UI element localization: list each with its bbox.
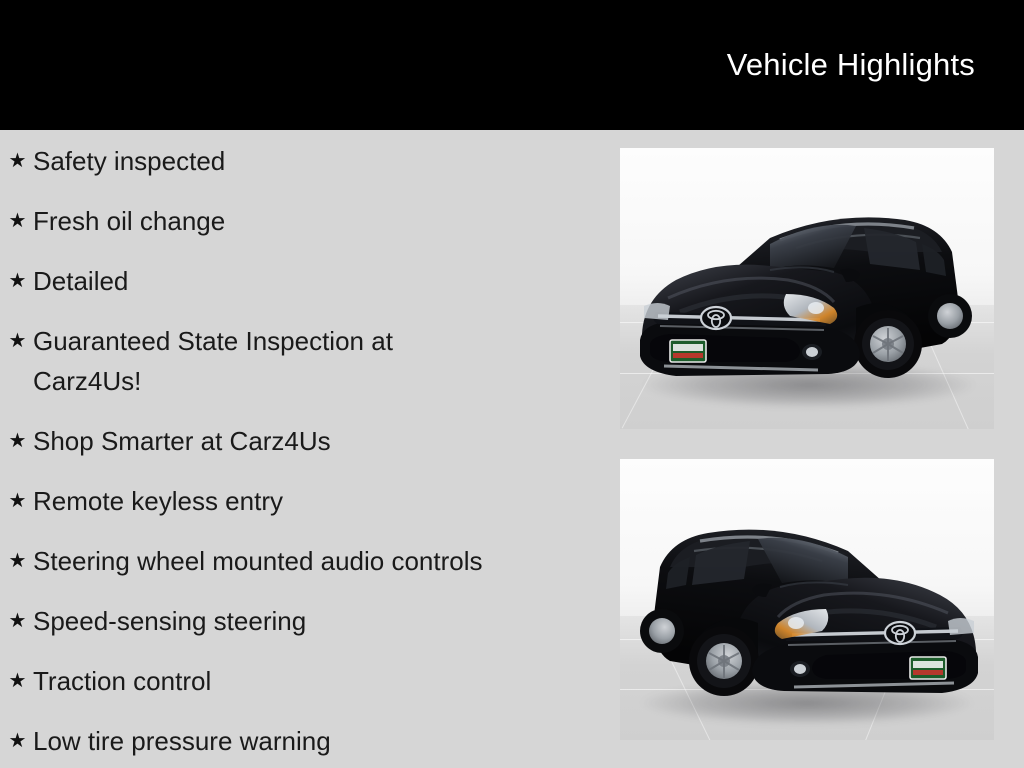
list-item-label: Speed-sensing steering: [33, 601, 463, 641]
list-item-label: Steering wheel mounted audio controls: [33, 541, 593, 581]
vehicle-highlights-slide: Vehicle Highlights ★ Safety inspected ★ …: [0, 0, 1024, 768]
star-bullet-icon: ★: [0, 201, 33, 241]
list-item: ★ Shop Smarter at Carz4Us: [0, 420, 600, 480]
list-item: ★ Traction control: [0, 660, 600, 720]
vehicle-illustration: [620, 459, 994, 740]
list-item: ★ Steering wheel mounted audio controls: [0, 540, 600, 600]
star-bullet-icon: ★: [0, 481, 33, 521]
list-item-label: Safety inspected: [33, 141, 463, 181]
page-title: Vehicle Highlights: [727, 48, 975, 82]
vehicle-highlights-list: ★ Safety inspected ★ Fresh oil change ★ …: [0, 140, 600, 768]
list-item: ★ Fresh oil change: [0, 200, 600, 260]
star-bullet-icon: ★: [0, 261, 33, 301]
dealer-license-plate: [670, 340, 706, 362]
vehicle-photo-front-driver-side[interactable]: [620, 148, 994, 429]
vehicle-illustration: [620, 148, 994, 429]
list-item: ★ Safety inspected: [0, 140, 600, 200]
star-bullet-icon: ★: [0, 541, 33, 581]
star-bullet-icon: ★: [0, 601, 33, 641]
list-item-label: Shop Smarter at Carz4Us: [33, 421, 463, 461]
list-item-label: Fresh oil change: [33, 201, 463, 241]
slide-header-bar: Vehicle Highlights: [0, 0, 1024, 130]
list-item: ★ Guaranteed State Inspection at Carz4Us…: [0, 320, 600, 420]
list-item-label: Low tire pressure warning: [33, 721, 463, 761]
list-item-label: Detailed: [33, 261, 463, 301]
list-item: ★ Low tire pressure warning: [0, 720, 600, 768]
vehicle-photo-front-passenger-side[interactable]: [620, 459, 994, 740]
list-item: ★ Speed-sensing steering: [0, 600, 600, 660]
star-bullet-icon: ★: [0, 721, 33, 761]
list-item: ★ Detailed: [0, 260, 600, 320]
dealer-license-plate: [910, 657, 946, 679]
list-item-label: Traction control: [33, 661, 463, 701]
list-item-label: Remote keyless entry: [33, 481, 463, 521]
star-bullet-icon: ★: [0, 141, 33, 181]
star-bullet-icon: ★: [0, 321, 33, 361]
star-bullet-icon: ★: [0, 661, 33, 701]
list-item: ★ Remote keyless entry: [0, 480, 600, 540]
list-item-label: Guaranteed State Inspection at Carz4Us!: [33, 321, 453, 401]
star-bullet-icon: ★: [0, 421, 33, 461]
